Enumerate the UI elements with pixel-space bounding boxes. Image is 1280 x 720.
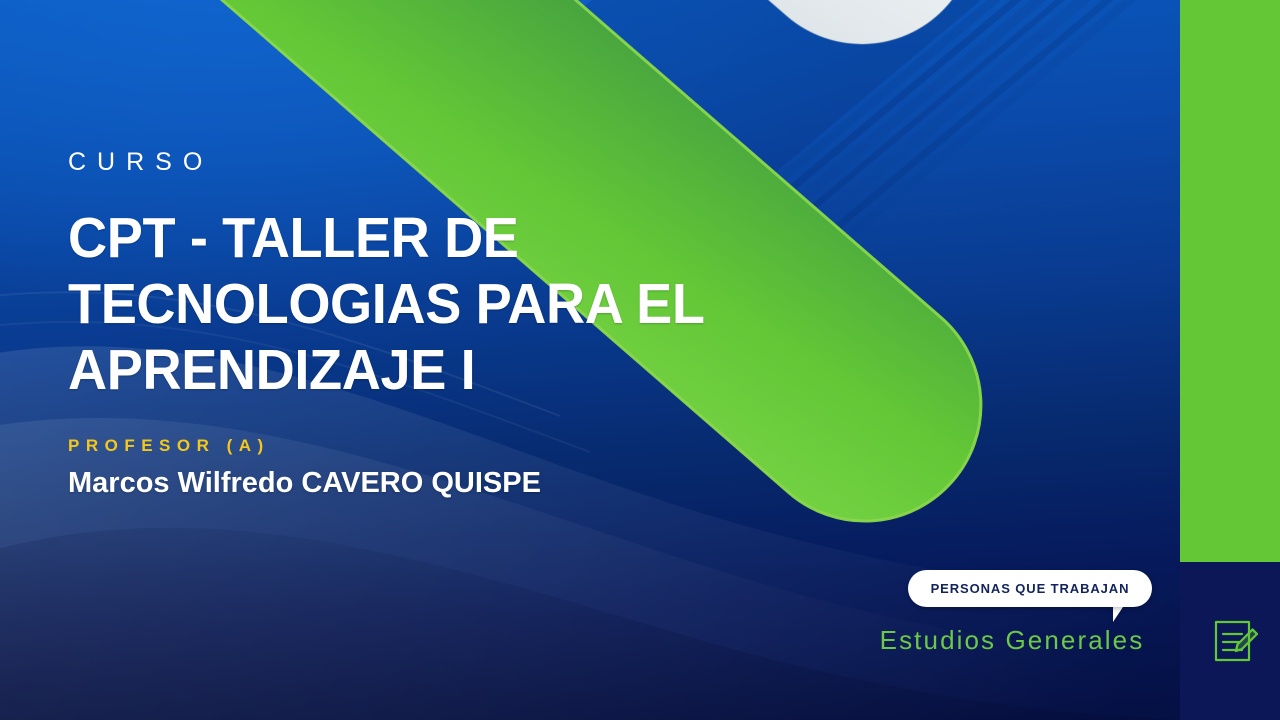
title-slide: CURSO CPT - TALLER DE TECNOLOGIAS PARA E… [0, 0, 1280, 720]
status-badge: PERSONAS QUE TRABAJAN [908, 570, 1152, 607]
eyebrow-curso: CURSO [68, 150, 868, 175]
professor-name: Marcos Wilfredo CAVERO QUISPE [68, 468, 868, 500]
title-block: CURSO CPT - TALLER DE TECNOLOGIAS PARA E… [68, 150, 868, 500]
professor-label: PROFESOR (A) [68, 437, 868, 454]
status-badge-label: PERSONAS QUE TRABAJAN [931, 581, 1130, 596]
note-pencil-icon [1208, 613, 1264, 669]
program-name: Estudios Generales [866, 625, 1158, 656]
page-title: CPT - TALLER DE TECNOLOGIAS PARA EL APRE… [68, 205, 828, 403]
